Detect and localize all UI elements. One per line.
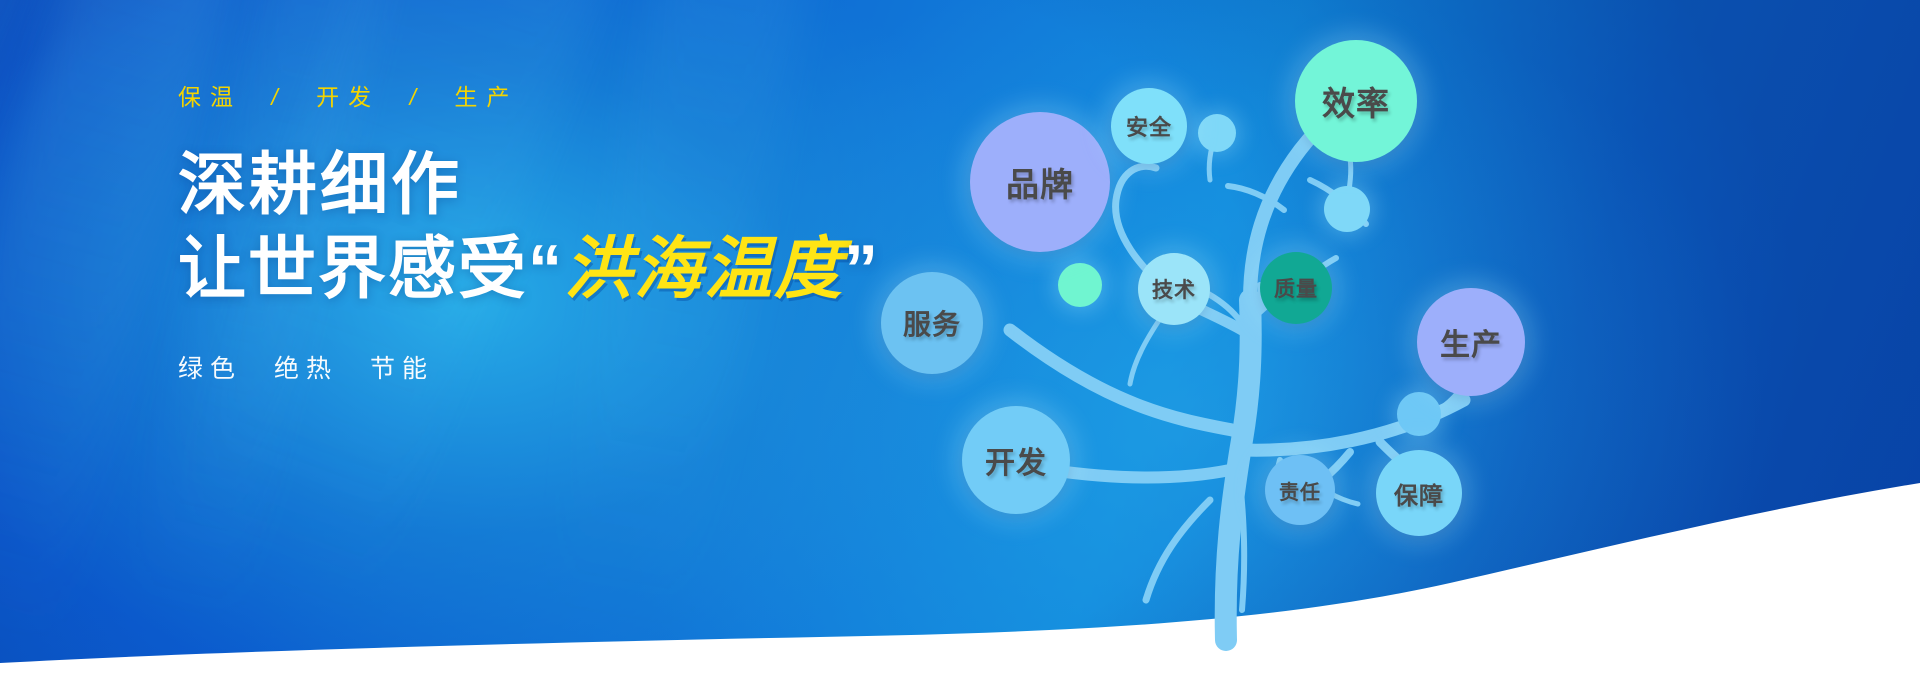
- decorative-dot-dot-4: [1397, 392, 1441, 436]
- bubble-label: 质量: [1274, 273, 1318, 303]
- bubble-label: 安全: [1126, 110, 1172, 142]
- bubble-assurance[interactable]: 保障: [1376, 450, 1462, 536]
- headline-prefix: 让世界感受: [178, 231, 528, 307]
- tagline-item-3: 生产: [454, 84, 518, 110]
- bubble-safety[interactable]: 安全: [1111, 88, 1187, 164]
- decorative-dot-dot-2: [1324, 186, 1370, 232]
- tagline-item-1: 保温: [178, 84, 242, 110]
- bubble-quality[interactable]: 质量: [1260, 252, 1332, 324]
- tagline-separator: /: [396, 84, 439, 110]
- bubble-label: 开发: [985, 438, 1047, 482]
- bubble-label: 保障: [1394, 476, 1444, 511]
- bubble-responsibility[interactable]: 责任: [1265, 455, 1335, 525]
- headline-brand-phrase: 洪海温度: [564, 231, 844, 307]
- bubble-label: 技术: [1152, 274, 1196, 304]
- bubble-efficiency[interactable]: 效率: [1295, 40, 1417, 162]
- decorative-dot-dot-1: [1198, 114, 1236, 152]
- bubble-label: 效率: [1322, 77, 1390, 125]
- bubble-label: 品牌: [1006, 158, 1074, 206]
- tagline-item-2: 开发: [316, 84, 380, 110]
- bubble-brand[interactable]: 品牌: [970, 112, 1110, 252]
- quote-close: ”: [844, 231, 880, 307]
- bubble-label: 服务: [903, 303, 961, 343]
- bubble-service[interactable]: 服务: [881, 272, 983, 374]
- quote-open: “: [528, 231, 564, 307]
- decorative-dot-dot-3: [1058, 263, 1102, 307]
- hero-banner: 保温 / 开发 / 生产 深耕细作 让世界感受“洪海温度” 绿色 绝热 节能: [0, 0, 1920, 681]
- bubble-technology[interactable]: 技术: [1138, 253, 1210, 325]
- bubble-development[interactable]: 开发: [962, 406, 1070, 514]
- bubble-label: 生产: [1440, 320, 1502, 364]
- bubble-tree-illustration: 品牌安全效率技术质量服务生产开发责任保障: [880, 0, 1920, 681]
- bubble-label: 责任: [1279, 476, 1321, 505]
- bubble-production[interactable]: 生产: [1417, 288, 1525, 396]
- tagline-separator: /: [257, 84, 300, 110]
